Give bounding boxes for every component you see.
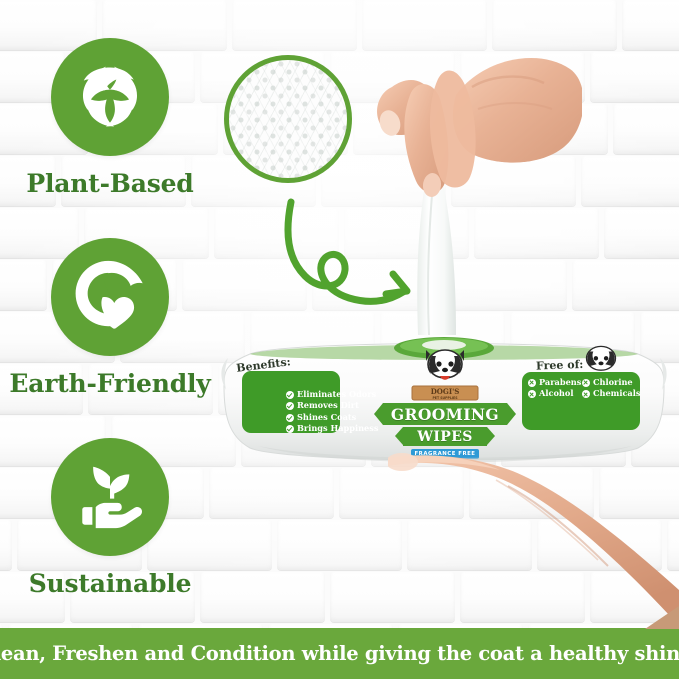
hand-holding-pack: [388, 440, 679, 635]
check-icon: [286, 414, 294, 422]
benefit-text: Brings Happiness: [297, 424, 378, 433]
globe-heart-icon: [51, 238, 169, 356]
benefit-text: Eliminates Odors: [297, 390, 376, 399]
check-icon: [286, 402, 294, 410]
x-icon: [582, 379, 590, 387]
feature-earth-friendly: Earth-Friendly: [4, 238, 216, 398]
list-item: Alcohol: [528, 389, 582, 398]
brand-line1: GROOMING: [383, 403, 507, 425]
hand-sprout-icon: [51, 438, 169, 556]
banner-text: Clean, Freshen and Condition while givin…: [0, 642, 679, 665]
x-icon: [528, 390, 536, 398]
feature-label: Earth-Friendly: [4, 369, 216, 398]
free-of-text: Chlorine: [593, 378, 633, 387]
list-item: Brings Happiness: [286, 424, 382, 433]
wipe-texture-closeup: [224, 55, 352, 183]
feature-plant-based: Plant-Based: [4, 38, 216, 198]
free-of-text: Chemicals: [593, 389, 640, 398]
x-icon: [582, 390, 590, 398]
free-of-list: Parabens Chlorine Alcohol Chemicals: [528, 378, 644, 401]
list-item: Parabens: [528, 378, 582, 387]
hand-pulling-wipe: [352, 35, 582, 350]
feature-sustainable: Sustainable: [4, 438, 216, 598]
free-of-text: Alcohol: [539, 389, 573, 398]
check-icon: [286, 425, 294, 433]
recycle-leaves-icon: [51, 38, 169, 156]
free-of-text: Parabens: [539, 378, 581, 387]
feature-label: Plant-Based: [4, 169, 216, 198]
wipe-texture-weave: [229, 60, 347, 178]
x-icon: [528, 379, 536, 387]
benefit-text: Shines Coats: [297, 413, 356, 422]
check-icon: [286, 391, 294, 399]
logo-sign-subtext: PET SUPPLIES: [432, 396, 458, 400]
list-item: Eliminates Odors: [286, 390, 382, 399]
benefits-list: Eliminates Odors Removes Dirt Shines Coa…: [246, 390, 382, 436]
benefit-text: Removes Dirt: [297, 401, 359, 410]
feature-label: Sustainable: [4, 569, 216, 598]
list-item: Chlorine: [582, 378, 636, 387]
logo-sign-text: DOGI'S: [431, 387, 460, 396]
wooden-sign-icon: DOGI'S PET SUPPLIES: [410, 385, 480, 401]
banner-corner-accent: [645, 606, 679, 629]
bottom-banner: Clean, Freshen and Condition while givin…: [0, 628, 679, 679]
list-item: Shines Coats: [286, 413, 382, 422]
dog-logo-icon: [418, 348, 472, 388]
product-marketing-image: Plant-Based Earth-Friendly: [0, 0, 679, 679]
list-item: Removes Dirt: [286, 401, 382, 410]
list-item: Chemicals: [582, 389, 636, 398]
